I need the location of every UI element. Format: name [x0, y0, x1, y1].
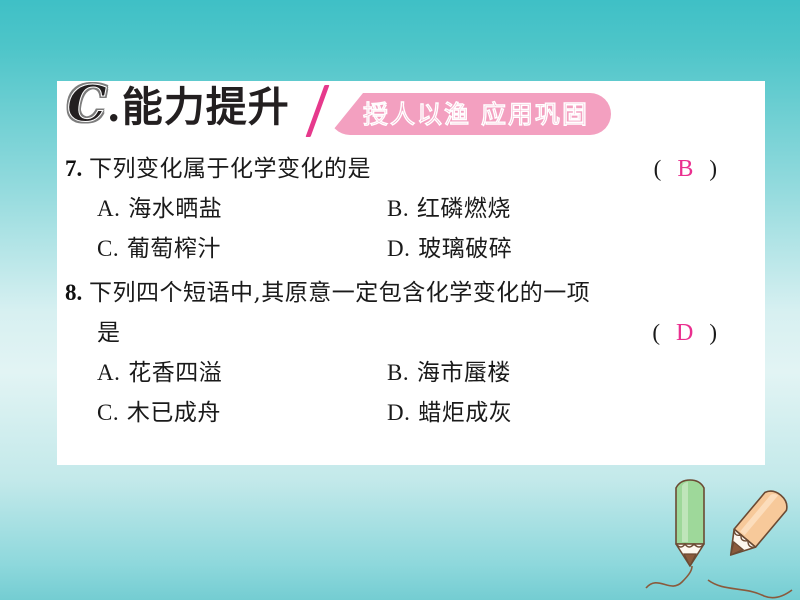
page-title: 能力提升: [122, 87, 290, 128]
option-d: D. 蜡炬成灰: [387, 393, 677, 433]
green-pencil-icon: [676, 480, 704, 566]
option-b-text: 红磷燃烧: [417, 196, 511, 222]
option-b-label: B.: [387, 360, 409, 385]
question-item: 8. 下列四个短语中,其原意一定包含化学变化的一项 是 (D) A. 花: [57, 273, 765, 433]
option-a-label: A.: [97, 196, 120, 221]
option-d-text: 蜡炬成灰: [418, 400, 512, 426]
option-d: D. 玻璃破碎: [387, 229, 677, 269]
question-stem: 8. 下列四个短语中,其原意一定包含化学变化的一项: [57, 273, 765, 313]
option-a-text: 海水晒盐: [128, 196, 222, 222]
option-a: A. 海水晒盐: [97, 189, 387, 229]
option-d-label: D.: [387, 400, 410, 425]
question-text: 下列四个短语中,其原意一定包含化学变化的一项: [89, 273, 590, 313]
options-row: C. 木已成舟 D. 蜡炬成灰: [57, 393, 765, 433]
option-c-text: 葡萄榨汁: [127, 236, 221, 262]
answer-bracket: (D): [652, 320, 765, 347]
option-d-label: D.: [387, 236, 410, 261]
option-b-text: 海市蜃楼: [417, 360, 511, 386]
question-stem: 7. 下列变化属于化学变化的是: [57, 149, 371, 189]
answer-close-paren: ): [709, 320, 717, 345]
question-text: 下列变化属于化学变化的是: [89, 149, 371, 189]
header-banner-label: 授人以渔 应用巩固: [351, 102, 589, 127]
squiggle-line-left: [646, 566, 692, 588]
option-d-text: 玻璃破碎: [418, 236, 512, 262]
question-number: 8.: [57, 273, 89, 313]
pencil-illustration: [640, 470, 800, 600]
option-b: B. 红磷燃烧: [387, 189, 677, 229]
option-c: C. 木已成舟: [97, 393, 387, 433]
option-c-text: 木已成舟: [127, 400, 221, 426]
question-number: 7.: [57, 149, 89, 189]
question-stem-row: 7. 下列变化属于化学变化的是 (B): [57, 149, 765, 189]
header-title-group: C . 能力提升: [67, 79, 290, 129]
options-row: A. 花香四溢 B. 海市蜃楼: [57, 353, 765, 393]
answer-value: B: [661, 156, 709, 182]
section-dot: .: [107, 88, 121, 128]
answer-bracket: (B): [654, 156, 765, 183]
option-b: B. 海市蜃楼: [387, 353, 677, 393]
pencil-decoration-group: [640, 470, 800, 600]
diagonal-slash-decoration: [306, 85, 330, 137]
option-a-text: 花香四溢: [128, 360, 222, 386]
option-c: C. 葡萄榨汁: [97, 229, 387, 269]
slide-background: C . 能力提升 授人以渔 应用巩固 7. 下列变化属于化学变化的是: [0, 0, 800, 600]
options-row: A. 海水晒盐 B. 红磷燃烧: [57, 189, 765, 229]
question-continuation: 是: [57, 313, 121, 353]
section-letter: C: [67, 79, 106, 129]
option-a-label: A.: [97, 360, 120, 385]
option-c-label: C.: [97, 400, 119, 425]
questions-list: 7. 下列变化属于化学变化的是 (B) A. 海水晒盐 B. 红磷燃烧: [57, 149, 765, 437]
squiggle-line-right: [708, 580, 792, 598]
orange-pencil-icon: [720, 486, 792, 564]
option-b-label: B.: [387, 196, 409, 221]
question-continuation-text: 是: [97, 313, 121, 353]
option-c-label: C.: [97, 236, 119, 261]
answer-close-paren: ): [709, 156, 717, 181]
content-card: C . 能力提升 授人以渔 应用巩固 7. 下列变化属于化学变化的是: [57, 81, 765, 465]
header-banner: 授人以渔 应用巩固: [329, 93, 611, 135]
options-row: C. 葡萄榨汁 D. 玻璃破碎: [57, 229, 765, 269]
option-a: A. 花香四溢: [97, 353, 387, 393]
answer-value: D: [660, 320, 709, 346]
answer-open-paren: (: [652, 320, 660, 345]
section-header: C . 能力提升 授人以渔 应用巩固: [57, 81, 765, 143]
question-item: 7. 下列变化属于化学变化的是 (B) A. 海水晒盐 B. 红磷燃烧: [57, 149, 765, 269]
question-continuation-row: 是 (D): [57, 313, 765, 353]
